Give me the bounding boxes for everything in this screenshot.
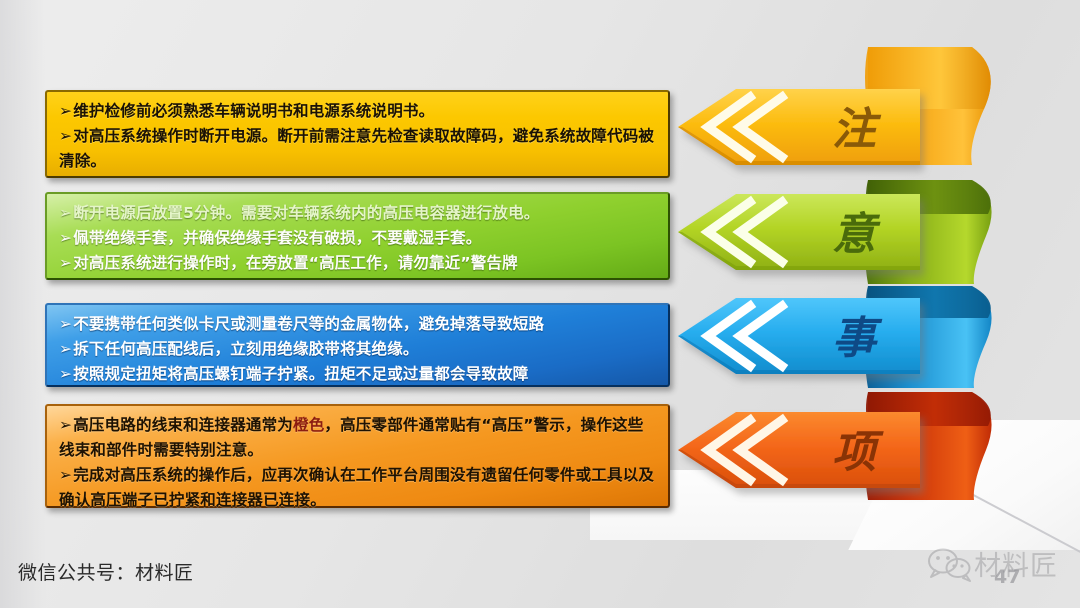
ribbon-shi-character: 事 — [832, 302, 876, 366]
ribbon-xiang-character: 项 — [832, 416, 876, 480]
content-line: ➢拆下任何高压配线后，立刻用绝缘胶带将其绝缘。 — [59, 337, 656, 362]
content-line: ➢对高压系统进行操作时，在旁放置“高压工作，请勿靠近”警告牌 — [59, 251, 656, 276]
content-text: 不要携带任何类似卡尺或测量卷尺等的金属物体，避免掉落导致短路 — [73, 315, 544, 333]
content-box-green[interactable]: ➢断开电源后放置5分钟。需要对车辆系统内的高压电容器进行放电。 ➢佩带绝缘手套，… — [45, 192, 670, 280]
wechat-icon — [928, 548, 972, 582]
bullet-icon: ➢ — [59, 99, 72, 124]
ribbon-xiang[interactable]: 项 — [672, 392, 1004, 522]
content-text: 维护检修前必须熟悉车辆说明书和电源系统说明书。 — [73, 102, 434, 120]
content-text: 按照规定扭矩将高压螺钉端子拧紧。扭矩不足或过量都会导致故障 — [73, 365, 528, 383]
ribbon-zhu[interactable]: 注 — [672, 47, 1004, 187]
bullet-icon: ➢ — [59, 124, 72, 149]
content-line: ➢高压电路的线束和连接器通常为橙色，高压零部件通常贴有“高压”警示，操作这些线束… — [59, 413, 656, 463]
content-box-yellow[interactable]: ➢维护检修前必须熟悉车辆说明书和电源系统说明书。 ➢对高压系统操作时断开电源。断… — [45, 90, 670, 178]
content-text: 断开电源后放置5分钟。需要对车辆系统内的高压电容器进行放电。 — [73, 204, 539, 222]
bullet-icon: ➢ — [59, 251, 72, 276]
ribbon-zhu-character: 注 — [832, 93, 876, 157]
bullet-icon: ➢ — [59, 226, 72, 251]
highlight-text: 橙色 — [293, 416, 324, 434]
content-text: 佩带绝缘手套，并确保绝缘手套没有破损，不要戴湿手套。 — [73, 229, 481, 247]
content-text-before: 高压电路的线束和连接器通常为 — [73, 416, 293, 434]
wechat-account-label: 微信公共号：材料匠 — [18, 558, 194, 585]
slide-canvas: 注 — [0, 0, 1080, 608]
content-line: ➢完成对高压系统的操作后，应再次确认在工作平台周围没有遗留任何零件或工具以及确认… — [59, 463, 656, 513]
content-text: 拆下任何高压配线后，立刻用绝缘胶带将其绝缘。 — [73, 340, 418, 358]
content-line: ➢维护检修前必须熟悉车辆说明书和电源系统说明书。 — [59, 99, 656, 124]
ribbon-yi-character: 意 — [832, 198, 876, 262]
bullet-icon: ➢ — [59, 337, 72, 362]
bullet-icon: ➢ — [59, 362, 72, 387]
bullet-icon: ➢ — [59, 413, 72, 438]
content-text: 对高压系统操作时断开电源。断开前需注意先检查读取故障码，避免系统故障代码被清除。 — [59, 127, 654, 170]
bullet-icon: ➢ — [59, 312, 72, 337]
content-line: ➢不要携带任何类似卡尺或测量卷尺等的金属物体，避免掉落导致短路 — [59, 312, 656, 337]
ribbon-shi[interactable]: 事 — [672, 286, 1004, 408]
background-left-shade — [0, 0, 46, 608]
bullet-icon: ➢ — [59, 201, 72, 226]
content-text: 完成对高压系统的操作后，应再次确认在工作平台周围没有遗留任何零件或工具以及确认高… — [59, 466, 654, 509]
page-number: 47 — [994, 566, 1020, 588]
content-text: 对高压系统进行操作时，在旁放置“高压工作，请勿靠近”警告牌 — [73, 254, 518, 272]
content-line: ➢断开电源后放置5分钟。需要对车辆系统内的高压电容器进行放电。 — [59, 201, 656, 226]
content-box-orange[interactable]: ➢高压电路的线束和连接器通常为橙色，高压零部件通常贴有“高压”警示，操作这些线束… — [45, 404, 670, 508]
content-line: ➢佩带绝缘手套，并确保绝缘手套没有破损，不要戴湿手套。 — [59, 226, 656, 251]
content-box-blue[interactable]: ➢不要携带任何类似卡尺或测量卷尺等的金属物体，避免掉落导致短路 ➢拆下任何高压配… — [45, 303, 670, 387]
content-line: ➢对高压系统操作时断开电源。断开前需注意先检查读取故障码，避免系统故障代码被清除… — [59, 124, 656, 174]
content-line: ➢按照规定扭矩将高压螺钉端子拧紧。扭矩不足或过量都会导致故障 — [59, 362, 656, 387]
bullet-icon: ➢ — [59, 463, 72, 488]
